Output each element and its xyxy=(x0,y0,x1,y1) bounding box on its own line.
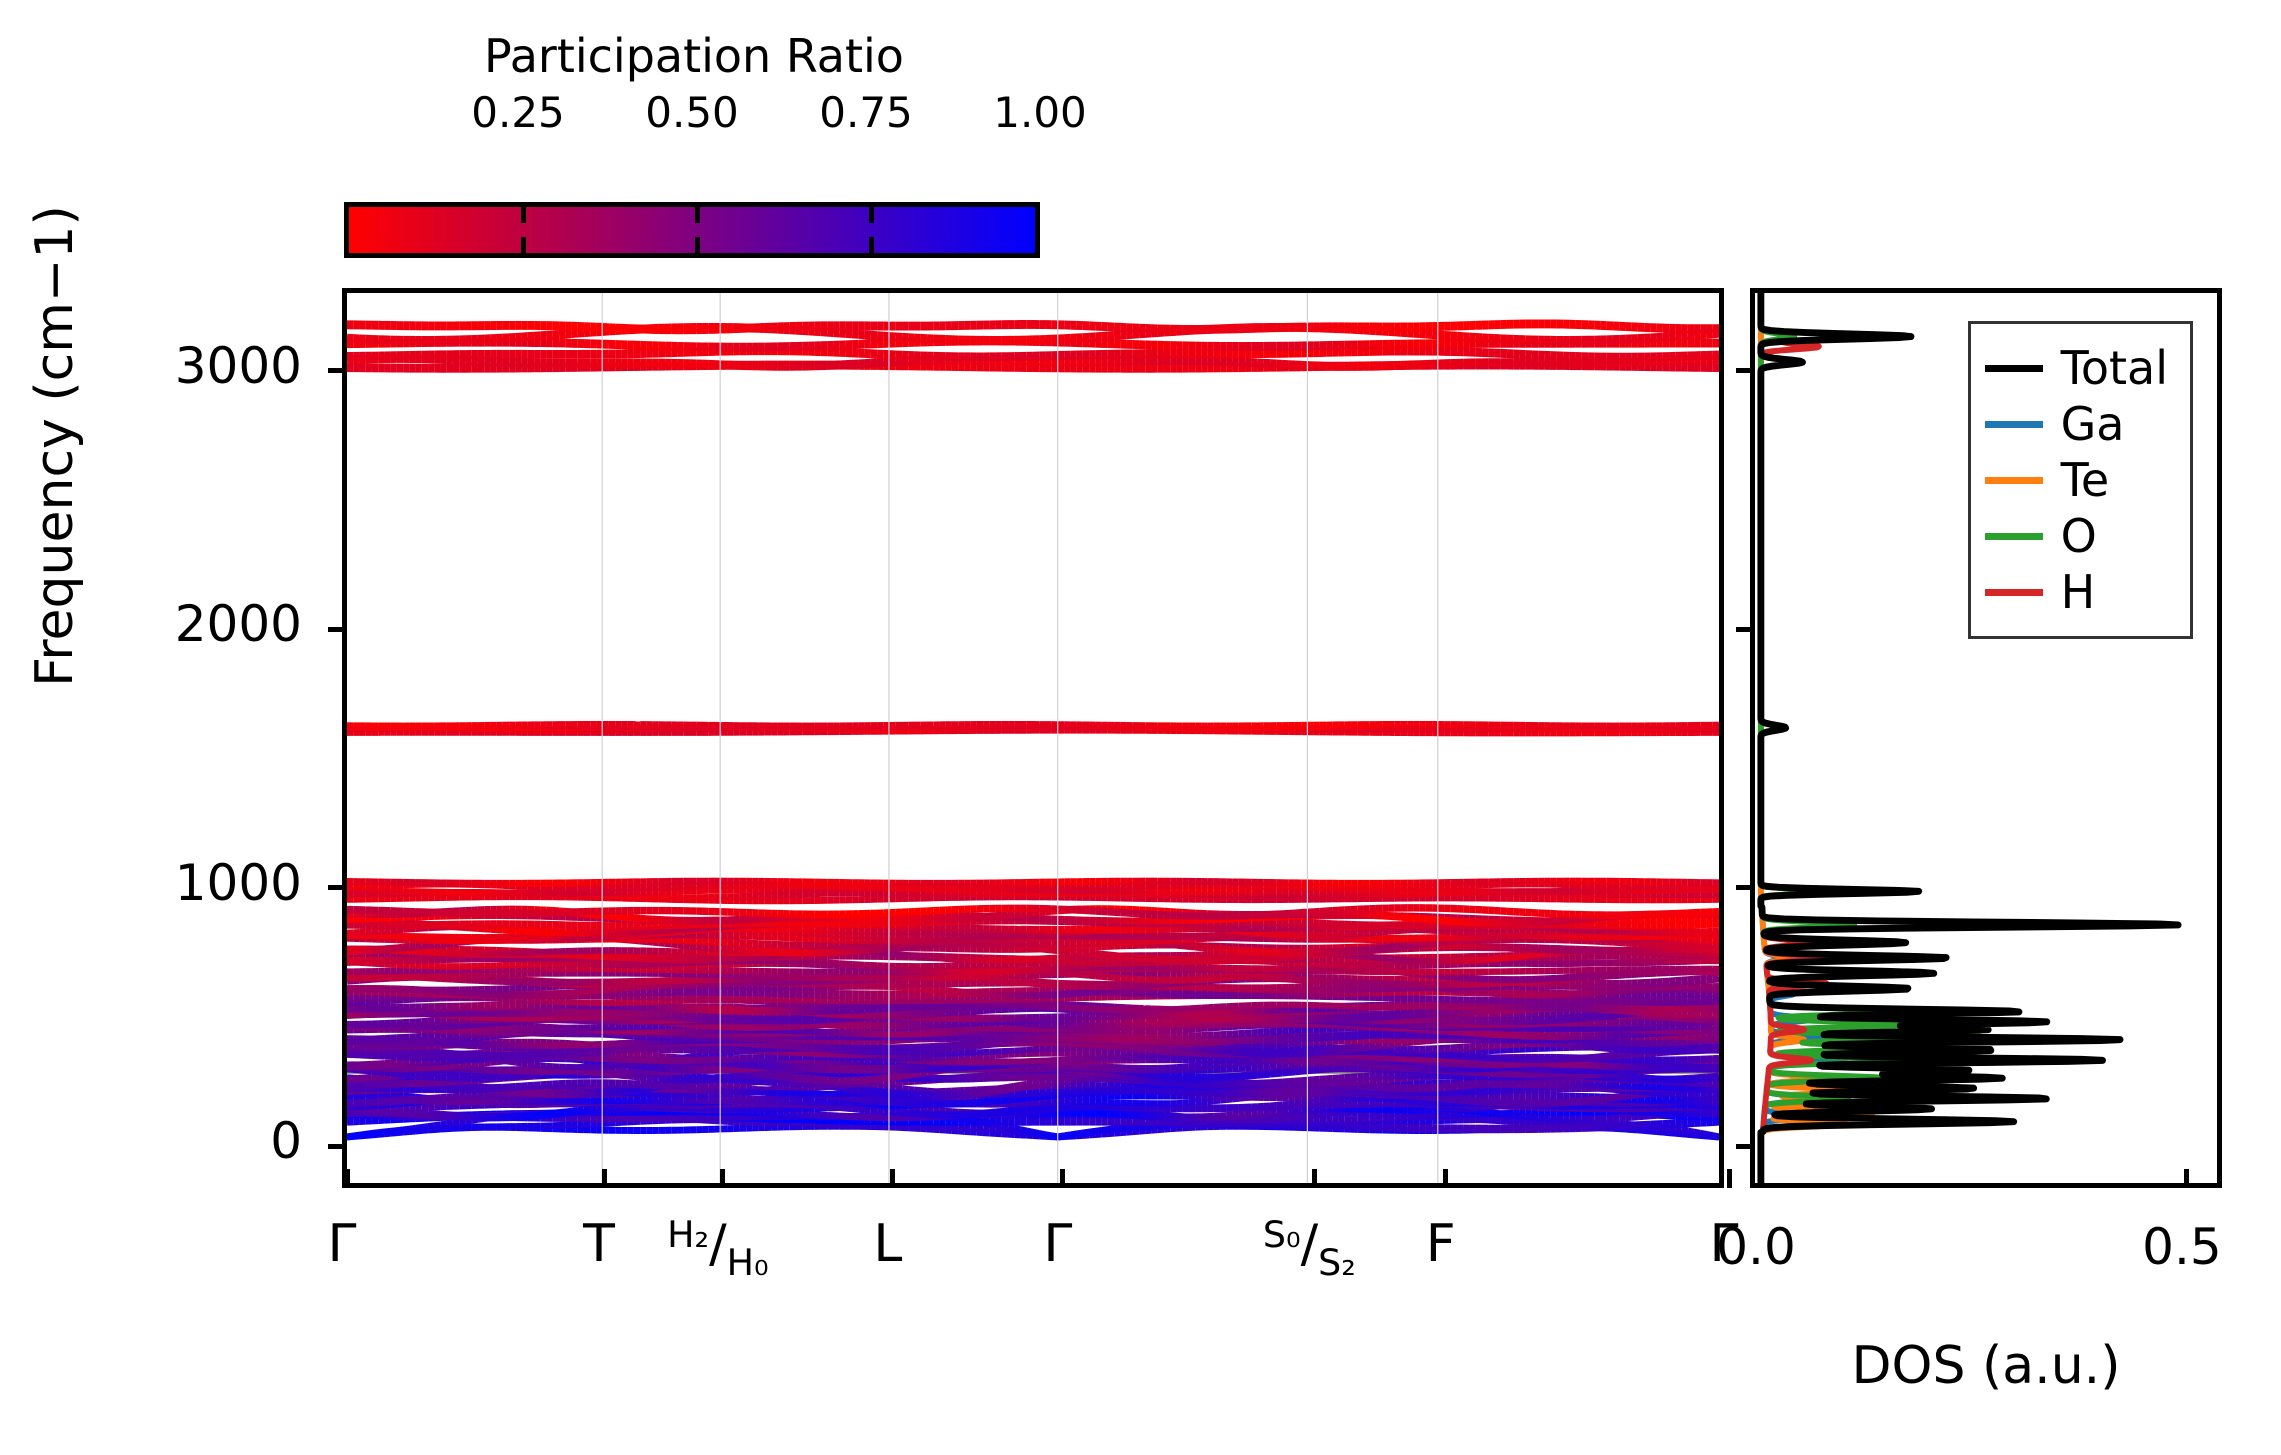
colorbar-tick-label: 0.75 xyxy=(819,88,913,137)
x-tick-label: Γ xyxy=(1043,1218,1072,1270)
y-tick-mark xyxy=(328,885,347,890)
colorbar-tick-mark xyxy=(521,207,526,223)
legend-swatch-o xyxy=(1985,533,2043,540)
colorbar-title: Participation Ratio xyxy=(344,28,1044,84)
x-tick-mark xyxy=(720,1169,725,1188)
legend-item-te: Te xyxy=(1985,452,2168,508)
y-tick-label: 3000 xyxy=(0,337,302,395)
legend-label: Te xyxy=(2061,457,2110,503)
x-tick-mark xyxy=(1727,1169,1732,1188)
y-tick-label: 0 xyxy=(0,1112,302,1170)
dos-legend: TotalGaTeOH xyxy=(1968,321,2193,639)
colorbar-tick-label: 1.00 xyxy=(993,88,1087,137)
x-tick-label: Γ xyxy=(328,1218,357,1270)
legend-swatch-total xyxy=(1985,365,2043,372)
x-tick-mark xyxy=(345,1169,350,1188)
legend-item-h: H xyxy=(1985,564,2168,620)
dos-y-tick-mark xyxy=(1736,1144,1755,1149)
legend-label: Ga xyxy=(2061,401,2125,447)
dos-y-tick-mark xyxy=(1736,368,1755,373)
colorbar-tick-label: 0.25 xyxy=(471,88,565,137)
colorbar-tick-mark xyxy=(869,207,874,223)
colorbar-tick-labels: 0.250.500.751.00 xyxy=(344,88,1040,138)
dos-x-tick-label: 0.0 xyxy=(1716,1218,1796,1276)
colorbar-tick-label: 0.50 xyxy=(645,88,739,137)
band-curves xyxy=(347,324,1719,1137)
y-tick-label: 2000 xyxy=(0,595,302,653)
phonon-band-dos-figure: Participation Ratio 0.250.500.751.00 Fre… xyxy=(0,0,2281,1455)
colorbar-tick-mark xyxy=(695,237,700,253)
y-tick-mark xyxy=(328,368,347,373)
y-tick-label: 1000 xyxy=(0,854,302,912)
colorbar-tick-mark xyxy=(869,237,874,253)
legend-item-o: O xyxy=(1985,508,2168,564)
colorbar-gradient xyxy=(349,207,1035,253)
band-structure-plot xyxy=(347,293,1719,1183)
legend-item-ga: Ga xyxy=(1985,396,2168,452)
dos-y-tick-mark xyxy=(1736,885,1755,890)
y-tick-mark xyxy=(328,627,347,632)
x-tick-label: L xyxy=(873,1218,902,1270)
colorbar-tick-mark xyxy=(521,237,526,253)
x-tick-mark xyxy=(1060,1169,1065,1188)
x-tick-mark xyxy=(890,1169,895,1188)
colorbar-tick-mark xyxy=(695,207,700,223)
legend-label: O xyxy=(2061,513,2097,559)
dos-x-tick-mark xyxy=(2184,1169,2189,1188)
legend-swatch-h xyxy=(1985,589,2043,596)
dos-x-axis-label: DOS (a.u.) xyxy=(1750,1336,2222,1396)
x-tick-label: H₂/H₀ xyxy=(667,1218,768,1270)
dos-x-tick-mark xyxy=(1759,1169,1764,1188)
legend-item-total: Total xyxy=(1985,340,2168,396)
x-tick-label: T xyxy=(583,1218,615,1270)
dos-y-tick-mark xyxy=(1736,627,1755,632)
participation-ratio-colorbar xyxy=(344,202,1040,258)
dos-axes: TotalGaTeOH xyxy=(1750,288,2222,1188)
legend-label: H xyxy=(2061,569,2096,615)
legend-label: Total xyxy=(2061,345,2168,391)
x-tick-mark xyxy=(1443,1169,1448,1188)
x-tick-mark xyxy=(1312,1169,1317,1188)
x-tick-mark xyxy=(602,1169,607,1188)
legend-swatch-te xyxy=(1985,477,2043,484)
legend-swatch-ga xyxy=(1985,421,2043,428)
x-tick-label: S₀/S₂ xyxy=(1263,1218,1356,1270)
y-tick-mark xyxy=(328,1144,347,1149)
band-structure-axes xyxy=(342,288,1724,1188)
x-tick-label: F xyxy=(1426,1218,1456,1270)
dos-x-tick-label: 0.5 xyxy=(2142,1218,2222,1276)
